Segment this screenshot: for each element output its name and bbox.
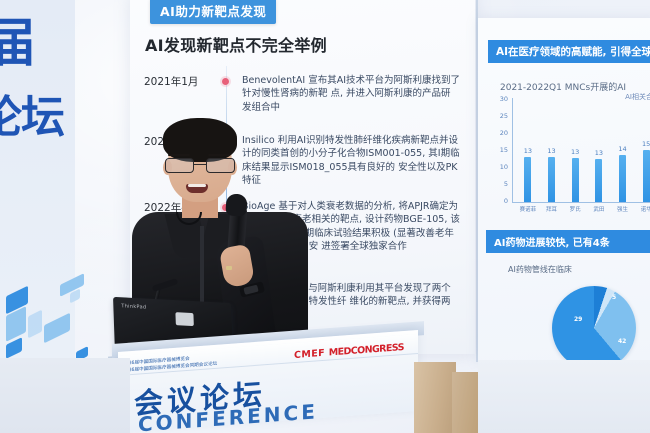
- bar-group: 13: [540, 98, 564, 202]
- pie-slice-label: 42: [618, 338, 626, 345]
- pie-slice-label: 5: [612, 294, 616, 301]
- bar-value-label: 13: [595, 149, 603, 157]
- iso-shape-chart: [28, 310, 42, 339]
- glasses-bridge: [194, 164, 206, 165]
- timeline-marker-dot: [222, 78, 229, 85]
- x-tick-label: 诺华: [634, 205, 650, 213]
- y-tick-label: 10: [486, 163, 508, 171]
- bar-group: 14: [611, 98, 635, 202]
- cmef-logo-mark: CMEF: [294, 348, 325, 361]
- laptop-brand-logo: ThinkPad: [121, 303, 146, 310]
- medcongress-logo-mark: MEDCONGRESS: [329, 342, 404, 359]
- finger-ring: [226, 266, 232, 270]
- chart-bars: 13 13 13 13 14: [516, 98, 650, 202]
- bar-chart: AI相关合作 30 25 20 15 10 5 0 13 13 13: [486, 92, 650, 222]
- y-tick-label: 15: [486, 146, 508, 154]
- bar: [572, 158, 579, 202]
- right-slide-banner-2: AI药物进展较快, 已有4条: [486, 230, 650, 253]
- y-tick-label: 0: [486, 197, 508, 205]
- pie-slice-label: 29: [574, 316, 582, 323]
- y-tick-label: 30: [486, 95, 508, 103]
- bar: [548, 157, 555, 202]
- bar-value-label: 14: [618, 145, 626, 153]
- y-tick-label: 25: [486, 112, 508, 120]
- slide-section-tag: AI助力新靶点发现: [150, 0, 276, 24]
- chart-x-labels: 赛诺菲 拜耳 罗氏 武田 强生 诺华: [516, 205, 650, 213]
- floor-right: [478, 360, 650, 433]
- floor-left: [0, 358, 130, 433]
- speaker-eyebrow-left: [168, 154, 190, 156]
- bar-value-label: 15: [642, 140, 650, 148]
- bar-value-label: 13: [524, 147, 532, 155]
- eyeglasses: [164, 158, 236, 173]
- timeline-date: 2021年1月: [144, 74, 226, 89]
- glasses-lens-left: [165, 158, 194, 173]
- left-banner-text-line1: 届: [0, 18, 34, 70]
- bar-group: 13: [587, 98, 611, 202]
- x-tick-label: 罗氏: [563, 205, 587, 213]
- x-tick-label: 赛诺菲: [516, 205, 540, 213]
- bar-value-label: 13: [547, 147, 555, 155]
- slide-heading: AI发现新靶点不完全举例: [145, 32, 327, 56]
- bar-group: 15: [634, 98, 650, 202]
- iso-shape-laptop: [44, 313, 70, 344]
- right-slide-subtitle-2: AI药物管线在临床: [508, 264, 650, 275]
- bar: [643, 150, 650, 202]
- podium-side-panel: [414, 362, 456, 433]
- pie-circle: [552, 286, 636, 370]
- chart-y-axis: [512, 98, 513, 202]
- y-tick-label: 5: [486, 180, 508, 188]
- bar-value-label: 13: [571, 148, 579, 156]
- bar: [619, 155, 626, 202]
- projected-slide-right: AI在医疗领域的高赋能, 引得全球 2021-2022Q1 MNCs开展的AI …: [478, 18, 650, 363]
- timeline-text: BenevolentAI 宣布其AI技术平台为阿斯利康找到了针对慢性肾病的新靶 …: [242, 74, 460, 114]
- screenshot-stage: 届 论坛 物研发 AI助力新靶点发现 AI发现新靶点不完全举例 2021年1月 …: [0, 0, 650, 433]
- laptop-sticker: [175, 312, 193, 326]
- podium-org-text: 第86届中国国际医疗器械博览会 第86届中国国际医疗器械博览会同期会议论坛: [124, 355, 217, 376]
- bar: [595, 159, 602, 202]
- podium-side-panel-2: [452, 372, 480, 433]
- handheld-microphone-head: [225, 193, 247, 216]
- bar-group: 13: [516, 98, 540, 202]
- isometric-illustration-cluster: [4, 261, 122, 361]
- left-banner-text-line2: 论坛: [0, 96, 64, 140]
- glasses-lens-right: [206, 158, 235, 173]
- speaker-eyebrow-right: [208, 154, 230, 156]
- x-tick-label: 拜耳: [540, 205, 564, 213]
- right-slide-banner: AI在医疗领域的高赋能, 引得全球: [488, 40, 650, 63]
- chart-x-axis: [512, 202, 650, 203]
- bar-group: 13: [563, 98, 587, 202]
- x-tick-label: 武田: [587, 205, 611, 213]
- y-tick-label: 20: [486, 129, 508, 137]
- bar: [524, 157, 531, 202]
- x-tick-label: 强生: [611, 205, 635, 213]
- cmef-logo: CMEF MEDCONGRESS: [294, 342, 404, 361]
- speaker-mouth: [186, 184, 208, 193]
